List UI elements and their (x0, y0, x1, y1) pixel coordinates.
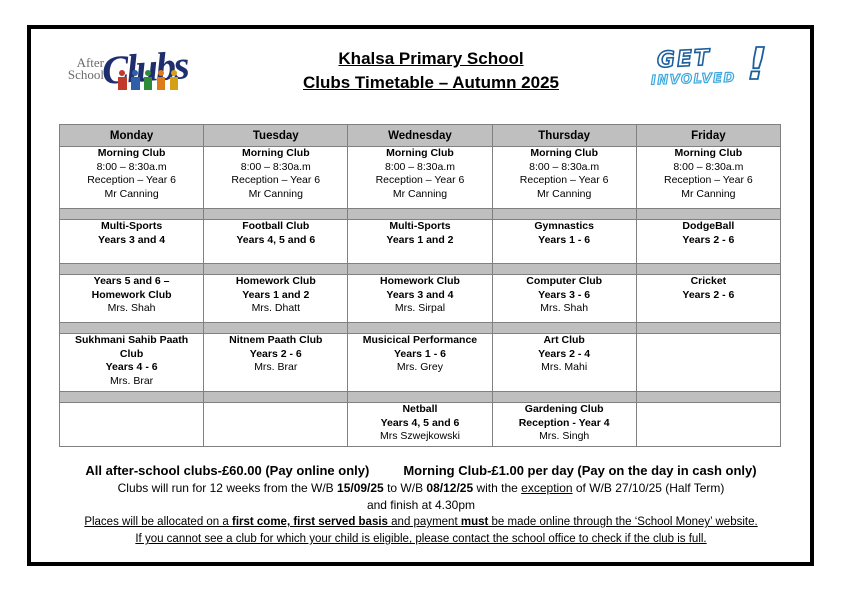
spacer-cell (204, 209, 348, 220)
note-run-suffix: of W/B 27/10/25 (Half Term) (573, 481, 725, 495)
spacer-cell (636, 323, 780, 334)
note-alloc-mid: and payment (388, 516, 461, 528)
cell-title-line: Football Club (204, 220, 347, 234)
timetable-cell-row-netball-tuesday (204, 403, 348, 447)
spacer-cell (204, 264, 348, 275)
spacer-cell (492, 392, 636, 403)
column-header-friday: Friday (636, 125, 780, 147)
spacer-cell (204, 392, 348, 403)
cell-title-line: Homework Club (348, 275, 491, 289)
cell-title-line: Computer Club (493, 275, 636, 289)
timetable-cell-row-netball-friday (636, 403, 780, 447)
get-involved-exclamation-icon: ! (747, 43, 767, 87)
cell-detail-line: Mr Canning (493, 188, 636, 202)
cell-detail-line: Reception – Year 6 (348, 174, 491, 188)
timetable-cell-row-homework-monday: Years 5 and 6 –Homework ClubMrs. Shah (60, 275, 204, 323)
cell-title-line: Homework Club (204, 275, 347, 289)
spacer-cell (492, 323, 636, 334)
cell-title-line: Years 2 - 6 (637, 289, 780, 303)
spacer-cell (348, 264, 492, 275)
page-title: Khalsa Primary School (241, 47, 621, 71)
logo-school-word: School (68, 67, 104, 82)
cell-detail-line: 8:00 – 8:30a.m (493, 161, 636, 175)
timetable-cell-morning-club-wednesday: Morning Club8:00 – 8:30a.mReception – Ye… (348, 147, 492, 209)
timetable-spacer-row (60, 264, 781, 275)
timetable-cell-row-homework-wednesday: Homework ClubYears 3 and 4Mrs. Sirpal (348, 275, 492, 323)
timetable-cell-row-paath-wednesday: Musicical PerformanceYears 1 - 6Mrs. Gre… (348, 334, 492, 392)
note-allocation-line: Places will be allocated on a first come… (59, 514, 783, 531)
cell-detail-line: 8:00 – 8:30a.m (204, 161, 347, 175)
note-alloc-prefix: Places will be allocated on a (84, 516, 232, 528)
note-run-prefix: Clubs will run for 12 weeks from the W/B (118, 481, 337, 495)
table-row: Morning Club8:00 – 8:30a.mReception – Ye… (60, 147, 781, 209)
footer-notes: All after-school clubs-£60.00 (Pay onlin… (59, 461, 783, 548)
timetable-cell-row-paath-friday (636, 334, 780, 392)
timetable-cell-row-sports-friday: DodgeBallYears 2 - 6 (636, 220, 780, 264)
spacer-cell (60, 323, 204, 334)
after-school-clubs-logo: After School Clubs (54, 45, 204, 97)
spacer-cell (492, 264, 636, 275)
document-titles: Khalsa Primary School Clubs Timetable – … (241, 47, 621, 95)
cell-title-line: Multi-Sports (348, 220, 491, 234)
logo-children-figures-icon (116, 69, 182, 91)
cell-title-line: Morning Club (637, 147, 780, 161)
cell-detail-line: Mrs. Sirpal (348, 302, 491, 316)
column-header-tuesday: Tuesday (204, 125, 348, 147)
note-alloc-suffix: be made online through the ‘School Money… (488, 516, 757, 528)
cell-title-line: Multi-Sports (60, 220, 203, 234)
cell-title-line: Musicical Performance (348, 334, 491, 348)
cell-detail-line: Reception – Year 6 (204, 174, 347, 188)
cell-detail-line: 8:00 – 8:30a.m (637, 161, 780, 175)
cell-title-line: Years 5 and 6 – (60, 275, 203, 289)
timetable-cell-row-sports-monday: Multi-SportsYears 3 and 4 (60, 220, 204, 264)
cell-detail-line: Mrs. Shah (493, 302, 636, 316)
cell-title-line: Morning Club (204, 147, 347, 161)
spacer-cell (636, 209, 780, 220)
cell-title-line: Nitnem Paath Club (204, 334, 347, 348)
cell-detail-line: Mr Canning (637, 188, 780, 202)
timetable-cell-row-paath-monday: Sukhmani Sahib PaathClubYears 4 - 6Mrs. … (60, 334, 204, 392)
cell-detail-line: Reception – Year 6 (493, 174, 636, 188)
timetable-cell-row-paath-thursday: Art ClubYears 2 - 4Mrs. Mahi (492, 334, 636, 392)
cell-detail-line: Mr Canning (348, 188, 491, 202)
note-clubs-price: All after-school clubs-£60.00 (Pay onlin… (85, 463, 369, 478)
cell-title-line: Morning Club (60, 147, 203, 161)
cell-detail-line: Mrs. Grey (348, 361, 491, 375)
page-canvas: After School Clubs (0, 0, 841, 595)
spacer-cell (204, 323, 348, 334)
note-finish-time: and finish at 4.30pm (59, 497, 783, 514)
cell-detail-line: Reception – Year 6 (637, 174, 780, 188)
note-payment-line: All after-school clubs-£60.00 (Pay onlin… (59, 461, 783, 480)
spacer-cell (348, 209, 492, 220)
cell-detail-line: Mr Canning (60, 188, 203, 202)
timetable-cell-row-netball-monday (60, 403, 204, 447)
spacer-cell (60, 209, 204, 220)
table-row: Sukhmani Sahib PaathClubYears 4 - 6Mrs. … (60, 334, 781, 392)
table-row: Multi-SportsYears 3 and 4Football ClubYe… (60, 220, 781, 264)
timetable-cell-row-netball-wednesday: NetballYears 4, 5 and 6Mrs Szwejkowski (348, 403, 492, 447)
timetable-cell-row-homework-tuesday: Homework ClubYears 1 and 2Mrs. Dhatt (204, 275, 348, 323)
cell-title-line: Cricket (637, 275, 780, 289)
cell-title-line: Years 3 and 4 (60, 234, 203, 248)
table-row: NetballYears 4, 5 and 6Mrs SzwejkowskiGa… (60, 403, 781, 447)
cell-title-line: Gymnastics (493, 220, 636, 234)
column-header-wednesday: Wednesday (348, 125, 492, 147)
cell-title-line: Years 3 - 6 (493, 289, 636, 303)
note-exception-word: exception (521, 481, 572, 495)
cell-title-line: Morning Club (348, 147, 491, 161)
timetable-spacer-row (60, 323, 781, 334)
timetable-cell-morning-club-thursday: Morning Club8:00 – 8:30a.mReception – Ye… (492, 147, 636, 209)
note-first-come-basis: first come, first served basis (232, 516, 388, 528)
note-end-date: 08/12/25 (426, 481, 473, 495)
spacer-cell (492, 209, 636, 220)
timetable-cell-row-sports-thursday: GymnasticsYears 1 - 6 (492, 220, 636, 264)
page-frame: After School Clubs (27, 25, 814, 566)
cell-detail-line: Mrs. Shah (60, 302, 203, 316)
cell-detail-line: Mrs. Brar (60, 375, 203, 389)
cell-title-line: Netball (348, 403, 491, 417)
note-contact-office-line: If you cannot see a club for which your … (59, 531, 783, 548)
cell-title-line: Years 4, 5 and 6 (348, 417, 491, 431)
cell-detail-line: Mrs. Mahi (493, 361, 636, 375)
timetable-cell-row-homework-friday: CricketYears 2 - 6 (636, 275, 780, 323)
timetable-cell-row-homework-thursday: Computer ClubYears 3 - 6Mrs. Shah (492, 275, 636, 323)
cell-detail-line: Mrs Szwejkowski (348, 430, 491, 444)
get-involved-get-word: GET (656, 46, 711, 74)
cell-title-line: Years 2 - 6 (637, 234, 780, 248)
cell-detail-line: Mr Canning (204, 188, 347, 202)
cell-title-line: Homework Club (60, 289, 203, 303)
timetable-cell-row-netball-thursday: Gardening ClubReception - Year 4Mrs. Sin… (492, 403, 636, 447)
cell-detail-line: Mrs. Singh (493, 430, 636, 444)
spacer-cell (60, 392, 204, 403)
cell-title-line: Years 1 - 6 (493, 234, 636, 248)
cell-title-line: Art Club (493, 334, 636, 348)
column-header-thursday: Thursday (492, 125, 636, 147)
clubs-timetable: Monday Tuesday Wednesday Thursday Friday… (59, 124, 781, 447)
cell-title-line: Years 2 - 6 (204, 348, 347, 362)
timetable-cell-row-sports-wednesday: Multi-SportsYears 1 and 2 (348, 220, 492, 264)
cell-title-line: Years 1 and 2 (204, 289, 347, 303)
note-run-dates-line: Clubs will run for 12 weeks from the W/B… (59, 480, 783, 497)
spacer-cell (348, 323, 492, 334)
timetable-cell-morning-club-monday: Morning Club8:00 – 8:30a.mReception – Ye… (60, 147, 204, 209)
cell-title-line: Years 4, 5 and 6 (204, 234, 347, 248)
get-involved-graphic: GET INVOLVED ! (643, 45, 793, 100)
cell-title-line: Reception - Year 4 (493, 417, 636, 431)
cell-title-line: Sukhmani Sahib Paath (60, 334, 203, 348)
timetable-header-row: Monday Tuesday Wednesday Thursday Friday (60, 125, 781, 147)
note-run-mid: to W/B (384, 481, 427, 495)
timetable-spacer-row (60, 209, 781, 220)
cell-title-line: Years 4 - 6 (60, 361, 203, 375)
cell-title-line: Years 2 - 4 (493, 348, 636, 362)
spacer-cell (636, 264, 780, 275)
spacer-cell (636, 392, 780, 403)
note-run-with-the: with the (473, 481, 521, 495)
timetable-cell-row-sports-tuesday: Football ClubYears 4, 5 and 6 (204, 220, 348, 264)
cell-title-line: Years 1 and 2 (348, 234, 491, 248)
column-header-monday: Monday (60, 125, 204, 147)
cell-title-line: Years 3 and 4 (348, 289, 491, 303)
logo-afterschool-text: After School (54, 57, 104, 81)
timetable-body: Morning Club8:00 – 8:30a.mReception – Ye… (60, 147, 781, 447)
timetable-cell-morning-club-tuesday: Morning Club8:00 – 8:30a.mReception – Ye… (204, 147, 348, 209)
cell-detail-line: Mrs. Brar (204, 361, 347, 375)
timetable-cell-row-paath-tuesday: Nitnem Paath ClubYears 2 - 6Mrs. Brar (204, 334, 348, 392)
cell-detail-line: Reception – Year 6 (60, 174, 203, 188)
page-subtitle: Clubs Timetable – Autumn 2025 (241, 71, 621, 95)
note-morning-club-price: Morning Club-£1.00 per day (Pay on the d… (403, 463, 756, 478)
document-header: After School Clubs (31, 29, 810, 109)
cell-detail-line: 8:00 – 8:30a.m (60, 161, 203, 175)
timetable-spacer-row (60, 392, 781, 403)
cell-title-line: Club (60, 348, 203, 362)
cell-detail-line: Mrs. Dhatt (204, 302, 347, 316)
cell-title-line: DodgeBall (637, 220, 780, 234)
timetable-cell-morning-club-friday: Morning Club8:00 – 8:30a.mReception – Ye… (636, 147, 780, 209)
note-must-word: must (461, 516, 488, 528)
cell-title-line: Gardening Club (493, 403, 636, 417)
cell-title-line: Years 1 - 6 (348, 348, 491, 362)
spacer-cell (348, 392, 492, 403)
note-start-date: 15/09/25 (337, 481, 384, 495)
table-row: Years 5 and 6 –Homework ClubMrs. ShahHom… (60, 275, 781, 323)
cell-detail-line: 8:00 – 8:30a.m (348, 161, 491, 175)
cell-title-line: Morning Club (493, 147, 636, 161)
spacer-cell (60, 264, 204, 275)
get-involved-involved-word: INVOLVED (651, 71, 736, 89)
